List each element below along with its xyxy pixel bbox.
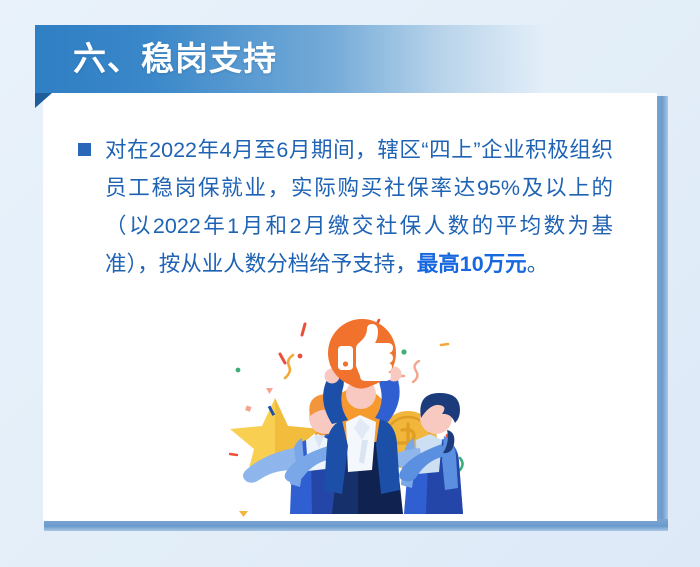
infographic-card-stage: 六、稳岗支持 对在2022年4月至6月期间，辖区“四上”企业积极组织员工稳岗保就…	[0, 0, 700, 567]
policy-text-part-3: 。	[527, 252, 549, 276]
banner-fold-triangle	[35, 93, 52, 108]
section-banner: 六、稳岗支持	[35, 25, 545, 93]
policy-text-highlight: 最高10万元	[417, 252, 527, 276]
policy-content: 对在2022年4月至6月期间，辖区“四上”企业积极组织员工稳岗保就业，实际购买社…	[78, 131, 613, 283]
person-center	[323, 319, 403, 514]
page-title: 六、稳岗支持	[73, 37, 277, 81]
square-bullet-icon	[78, 143, 91, 156]
celebration-people-illustration	[228, 318, 484, 522]
policy-paragraph: 对在2022年4月至6月期间，辖区“四上”企业积极组织员工稳岗保就业，实际购买社…	[78, 131, 613, 283]
